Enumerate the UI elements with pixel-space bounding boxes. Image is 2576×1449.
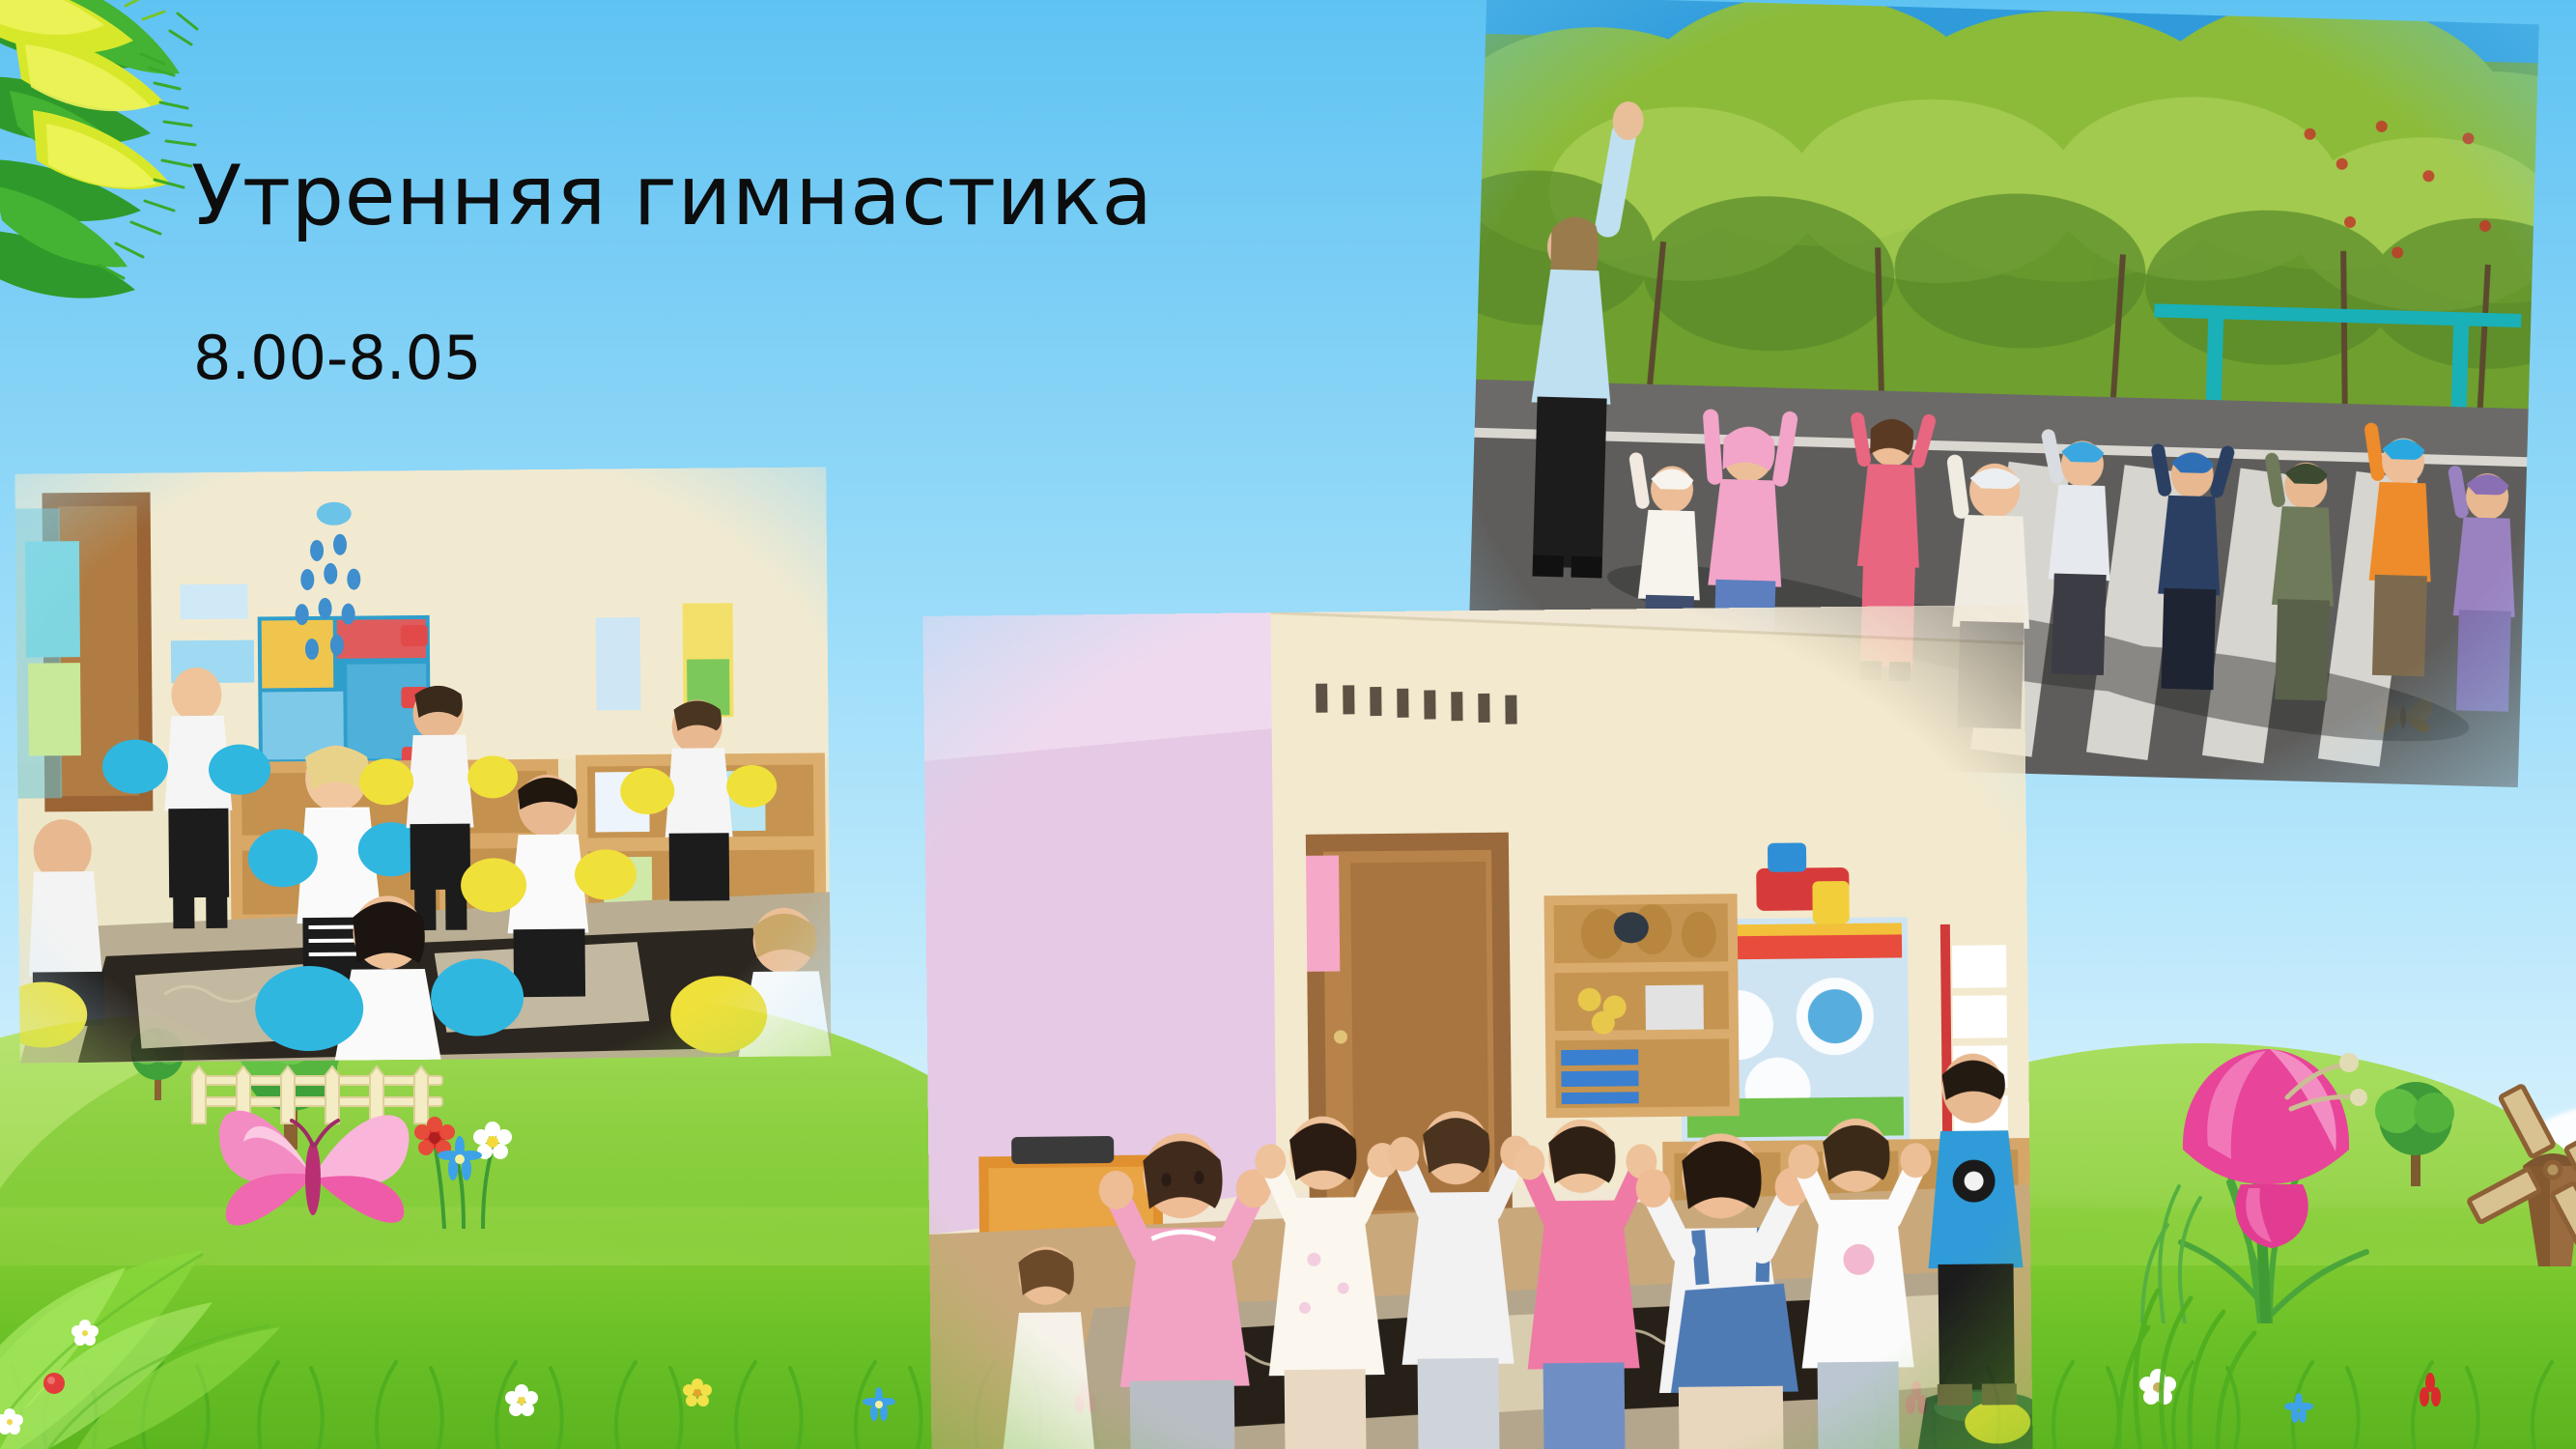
photo-indoor-group[interactable] — [922, 605, 2032, 1449]
windmill-icon — [2463, 1077, 2576, 1270]
grass-tuft-bottom-right — [2102, 1198, 2392, 1449]
slide-canvas: Утренняя гимнастика 8.00-8.05 — [0, 0, 2576, 1449]
photo-indoor-pompoms[interactable] — [14, 467, 831, 1063]
schedule-time: 8.00-8.05 — [193, 328, 481, 388]
flower-cluster-bottom-left — [394, 1084, 549, 1229]
page-title: Утренняя гимнастика — [191, 155, 1153, 238]
leaf-foreground-bottom-left — [0, 1043, 406, 1449]
